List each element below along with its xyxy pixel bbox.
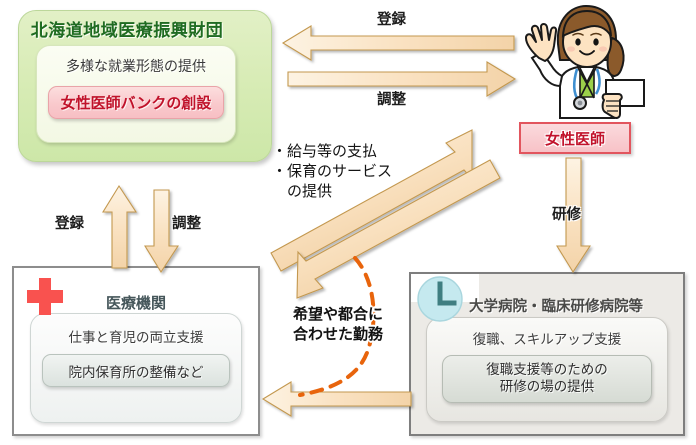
label-top-coordination: 調整	[377, 88, 406, 109]
university-item[interactable]: 復職支援等のための 研修の場の提供	[442, 355, 652, 403]
label-training: 研修	[552, 203, 581, 224]
clinic-item[interactable]: 院内保育所の整備など	[42, 354, 230, 387]
flexible-work-note: 希望や都合に 合わせた勤務	[268, 305, 408, 344]
payment-services-note: ・給与等の支払 ・保育のサービス の提供	[272, 142, 472, 201]
university-item-line2: 研修の場の提供	[500, 379, 595, 396]
foundation-subtitle: 多様な就業形態の提供	[36, 56, 236, 76]
clinic-title: 医療機関	[12, 292, 260, 313]
university-title: 大学病院・臨床研修病院等	[430, 295, 682, 316]
university-item-line1: 復職支援等のための	[486, 362, 608, 379]
foundation-title: 北海道地域医療振興財団	[0, 16, 254, 41]
bank-creation-button[interactable]: 女性医師バンクの創設	[48, 86, 224, 119]
clinic-subtitle: 仕事と育児の両立支援	[30, 326, 242, 346]
female-doctor-label: 女性医師	[519, 122, 631, 154]
label-top-registration: 登録	[377, 8, 406, 29]
diagram-canvas: 北海道地域医療振興財団 多様な就業形態の提供 女性医師バンクの創設	[0, 0, 696, 445]
label-left-registration: 登録	[55, 212, 84, 233]
female-doctor-icon	[520, 2, 650, 120]
university-subtitle: 復職、スキルアップ支援	[426, 328, 668, 348]
label-left-coordination: 調整	[172, 212, 201, 233]
